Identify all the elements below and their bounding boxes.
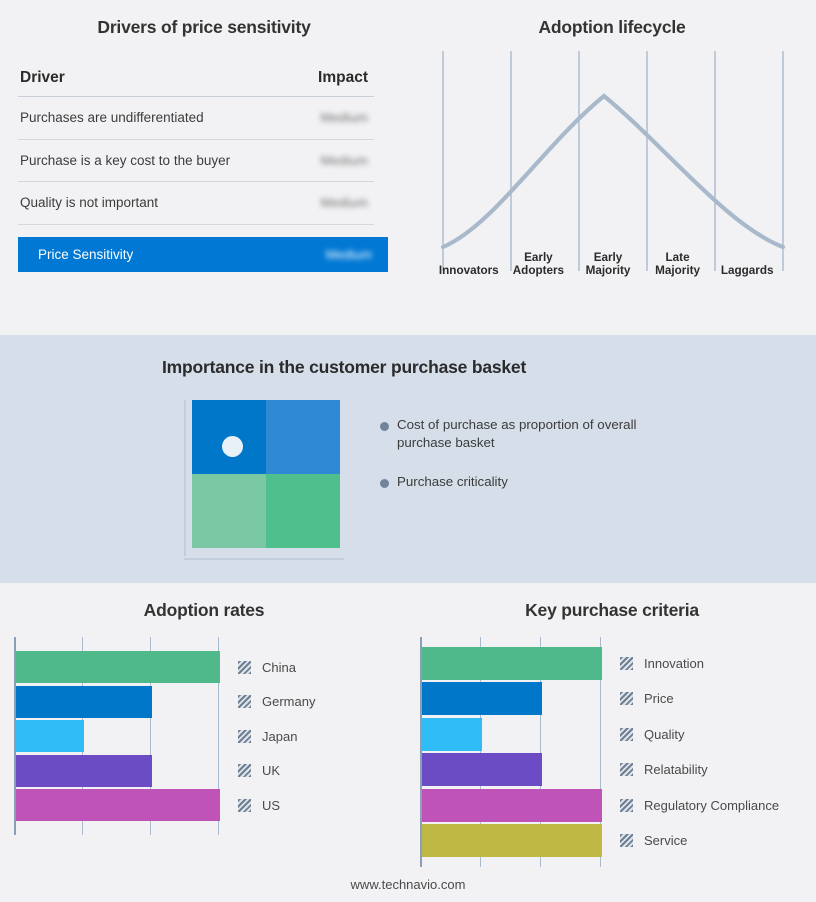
quadrant-bottom-right [266, 474, 340, 548]
bar-row [422, 718, 602, 751]
basket-legend-label: Purchase criticality [397, 473, 508, 491]
impact-value: Medium [321, 153, 368, 168]
top-band: Drivers of price sensitivity Driver Impa… [0, 0, 816, 335]
legend-item: Relatability [620, 753, 779, 786]
bar-row [422, 753, 602, 786]
purchase-basket-matrix [184, 400, 344, 560]
driver-label: Purchases are undifferentiated [20, 110, 204, 125]
legend-label: Innovation [644, 656, 704, 671]
legend-item: Japan [238, 720, 315, 752]
list-item: Cost of purchase as proportion of overal… [380, 416, 650, 451]
lifecycle-segment-laggards: Laggards [712, 233, 782, 279]
legend-swatch-icon [238, 764, 251, 777]
bar-segment [422, 682, 542, 715]
legend-label: US [262, 798, 280, 813]
purchase-criteria-chart: InnovationPriceQualityRelatabilityRegula… [420, 637, 816, 867]
bar-segment [16, 755, 152, 787]
purchase-criteria-title: Key purchase criteria [408, 583, 816, 621]
legend-swatch-icon [620, 692, 633, 705]
legend-swatch-icon [238, 730, 251, 743]
bar-row [16, 686, 220, 718]
legend-label: Relatability [644, 762, 708, 777]
driver-label: Purchase is a key cost to the buyer [20, 153, 230, 168]
bullet-dot-icon [380, 422, 389, 431]
legend-item: Regulatory Compliance [620, 789, 779, 822]
matrix-quadrants [192, 400, 340, 548]
adoption-rates-plot [14, 637, 220, 835]
bar-row [16, 755, 220, 787]
purchase-basket-band: Importance in the customer purchase bask… [0, 335, 816, 583]
purchase-criteria-legend: InnovationPriceQualityRelatabilityRegula… [602, 637, 779, 867]
bottom-band: Adoption rates ChinaGermanyJapanUKUS Key… [0, 583, 816, 902]
impact-value: Medium [321, 195, 368, 210]
legend-swatch-icon [620, 728, 633, 741]
basket-legend: Cost of purchase as proportion of overal… [380, 400, 650, 560]
matrix-x-axis [184, 558, 344, 560]
adoption-rates-title: Adoption rates [0, 583, 408, 621]
price-sensitivity-impact: Medium [326, 247, 372, 262]
basket-legend-label: Cost of purchase as proportion of overal… [397, 416, 650, 451]
adoption-rates-legend: ChinaGermanyJapanUKUS [220, 637, 315, 835]
impact-value: Medium [321, 110, 368, 125]
lifecycle-panel-title: Adoption lifecycle [408, 0, 816, 38]
legend-item: China [238, 651, 315, 683]
adoption-rates-chart: ChinaGermanyJapanUKUS [14, 637, 408, 835]
legend-label: China [262, 660, 296, 675]
drivers-panel-title: Drivers of price sensitivity [0, 0, 408, 38]
adoption-rates-panel: Adoption rates ChinaGermanyJapanUKUS [0, 583, 408, 902]
table-row: Purchase is a key cost to the buyer Medi… [18, 140, 374, 183]
purchase-criteria-panel: Key purchase criteria InnovationPriceQua… [408, 583, 816, 902]
adoption-rates-bars [16, 637, 220, 835]
legend-label: Germany [262, 694, 315, 709]
price-sensitivity-label: Price Sensitivity [38, 247, 133, 262]
adoption-lifecycle-chart: Innovators EarlyAdopters EarlyMajority L… [434, 49, 794, 279]
bar-segment [422, 753, 542, 786]
bar-row [16, 720, 220, 752]
legend-label: Quality [644, 727, 684, 742]
bell-curve-path [443, 96, 783, 247]
footer-url: www.technavio.com [0, 877, 816, 892]
bar-segment [16, 651, 220, 683]
bar-row [16, 789, 220, 821]
bar-row [422, 824, 602, 857]
quadrant-bottom-left [192, 474, 266, 548]
bar-row [16, 651, 220, 683]
legend-label: UK [262, 763, 280, 778]
legend-swatch-icon [238, 661, 251, 674]
column-header-impact: Impact [318, 69, 368, 87]
bar-segment [422, 824, 602, 857]
legend-item: Price [620, 682, 779, 715]
bar-segment [422, 718, 482, 751]
drivers-table: Driver Impact Purchases are undifferenti… [18, 69, 374, 272]
lifecycle-segment-late-majority: LateMajority [643, 233, 713, 279]
legend-item: UK [238, 755, 315, 787]
table-row: Purchases are undifferentiated Medium [18, 97, 374, 140]
basket-panel-body: Cost of purchase as proportion of overal… [184, 400, 816, 560]
bar-segment [422, 789, 602, 822]
bar-segment [16, 686, 152, 718]
drivers-panel: Drivers of price sensitivity Driver Impa… [0, 0, 408, 335]
matrix-position-marker [222, 436, 243, 457]
lifecycle-segment-early-adopters: EarlyAdopters [504, 233, 574, 279]
legend-item: US [238, 789, 315, 821]
basket-panel-title: Importance in the customer purchase bask… [0, 335, 816, 378]
legend-item: Innovation [620, 647, 779, 680]
purchase-criteria-plot [420, 637, 602, 867]
bar-row [422, 682, 602, 715]
price-sensitivity-summary-row: Price Sensitivity Medium [18, 237, 388, 272]
drivers-table-header: Driver Impact [18, 69, 374, 97]
purchase-criteria-bars [422, 637, 602, 867]
lifecycle-panel: Adoption lifecycle Innovators Ea [408, 0, 816, 335]
lifecycle-segment-early-majority: EarlyMajority [573, 233, 643, 279]
legend-item: Germany [238, 686, 315, 718]
legend-swatch-icon [620, 834, 633, 847]
lifecycle-segment-innovators: Innovators [434, 233, 504, 279]
legend-swatch-icon [238, 695, 251, 708]
legend-label: Price [644, 691, 674, 706]
legend-label: Service [644, 833, 687, 848]
driver-label: Quality is not important [20, 195, 158, 210]
bullet-dot-icon [380, 479, 389, 488]
list-item: Purchase criticality [380, 473, 650, 491]
column-header-driver: Driver [20, 69, 65, 87]
legend-label: Japan [262, 729, 297, 744]
bar-row [422, 647, 602, 680]
bar-segment [16, 789, 220, 821]
legend-swatch-icon [620, 763, 633, 776]
legend-swatch-icon [238, 799, 251, 812]
legend-swatch-icon [620, 657, 633, 670]
legend-swatch-icon [620, 799, 633, 812]
bar-segment [16, 720, 84, 752]
bar-row [422, 789, 602, 822]
matrix-y-axis [184, 400, 186, 556]
bar-segment [422, 647, 602, 680]
quadrant-top-right [266, 400, 340, 474]
legend-item: Service [620, 824, 779, 857]
table-row: Quality is not important Medium [18, 182, 374, 225]
legend-label: Regulatory Compliance [644, 798, 779, 813]
lifecycle-segment-labels: Innovators EarlyAdopters EarlyMajority L… [434, 233, 782, 279]
legend-item: Quality [620, 718, 779, 751]
